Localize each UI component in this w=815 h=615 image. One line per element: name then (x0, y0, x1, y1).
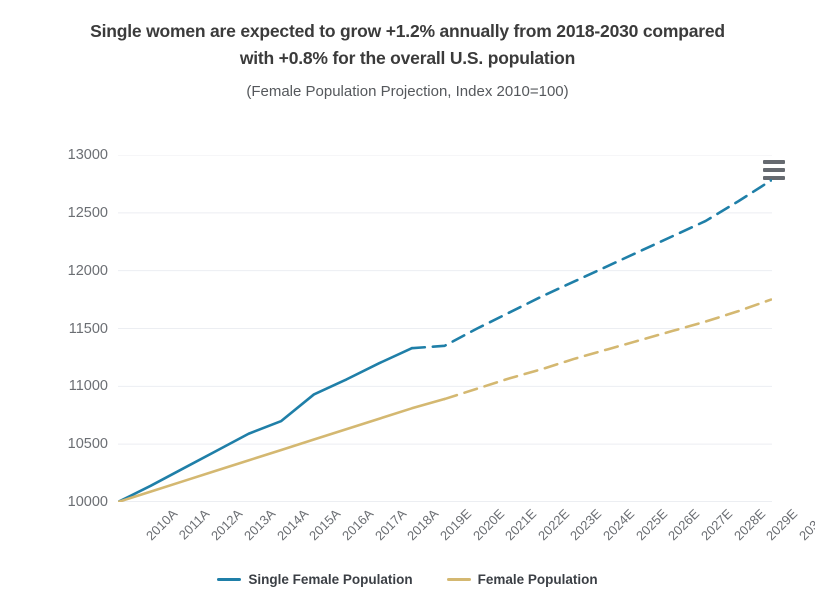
chart-subtitle: (Female Population Projection, Index 201… (0, 81, 815, 103)
x-axis-tick-label: 2015A (306, 506, 343, 543)
x-axis-tick-label: 2012A (208, 506, 245, 543)
y-axis-tick-label: 11500 (13, 321, 108, 337)
x-axis-tick-label: 2022E (535, 506, 572, 543)
x-axis-tick-label: 2023E (567, 506, 604, 543)
x-axis-tick-label: 2025E (633, 506, 670, 543)
y-axis-tick-label: 11000 (13, 378, 108, 394)
y-axis-tick-label: 12000 (13, 263, 108, 279)
chart-legend: Single Female PopulationFemale Populatio… (0, 572, 815, 587)
x-axis-tick-label: 2029E (763, 506, 800, 543)
x-axis-tick-label: 2027E (698, 506, 735, 543)
y-axis-tick-label: 10000 (13, 494, 108, 510)
legend-label: Single Female Population (248, 572, 412, 587)
x-axis-tick-label: 2030E (796, 506, 815, 543)
x-axis-tick-label: 2018A (404, 506, 441, 543)
x-axis-tick-label: 2024E (600, 506, 637, 543)
series-line-0-dashed[interactable] (412, 180, 771, 348)
x-axis-tick-label: 2021E (502, 506, 539, 543)
chart-title: Single women are expected to grow +1.2% … (0, 18, 815, 72)
chart-container: Single women are expected to grow +1.2% … (0, 0, 815, 615)
x-axis-tick-label: 2014A (274, 506, 311, 543)
legend-item[interactable]: Single Female Population (217, 572, 412, 587)
plot-svg (118, 155, 772, 502)
legend-swatch-icon (447, 578, 471, 582)
series-line-1-solid[interactable] (118, 399, 445, 502)
x-axis-tick-label: 2026E (665, 506, 702, 543)
legend-label: Female Population (478, 572, 598, 587)
y-axis-tick-label: 10500 (13, 436, 108, 452)
x-axis-tick-label: 2020E (470, 506, 507, 543)
series-layer (118, 180, 771, 502)
title-block: Single women are expected to grow +1.2% … (0, 18, 815, 103)
x-axis-tick-label: 2016A (339, 506, 376, 543)
x-axis-tick-label: 2028E (731, 506, 768, 543)
plot-area (118, 155, 772, 502)
y-axis-tick-label: 12500 (13, 205, 108, 221)
y-axis-tick-label: 13000 (13, 147, 108, 163)
x-axis-tick-label: 2017A (372, 506, 409, 543)
legend-swatch-icon (217, 578, 241, 582)
x-axis-tick-label: 2011A (175, 506, 212, 543)
chart-title-line-2: with +0.8% for the overall U.S. populati… (18, 45, 797, 72)
y-axis-labels: 10000105001100011500120001250013000 (0, 155, 108, 502)
chart-title-line-1: Single women are expected to grow +1.2% … (18, 18, 797, 45)
series-line-1-dashed[interactable] (445, 300, 772, 399)
x-axis-tick-label: 2013A (241, 506, 278, 543)
x-axis-labels: 2010A2011A2012A2013A2014A2015A2016A2017A… (118, 503, 772, 563)
x-axis-tick-label: 2010A (143, 506, 180, 543)
x-axis-tick-label: 2019E (437, 506, 474, 543)
series-line-0-solid[interactable] (118, 348, 412, 502)
legend-item[interactable]: Female Population (447, 572, 598, 587)
